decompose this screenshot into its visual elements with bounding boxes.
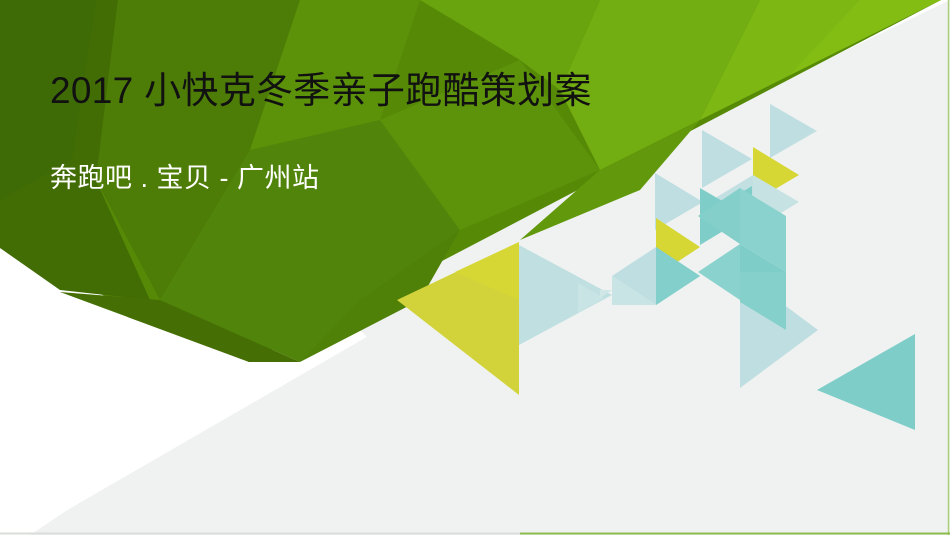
slide-subtitle: 奔跑吧 . 宝贝 - 广州站 xyxy=(50,160,690,196)
title-placeholder[interactable]: 2017 小快克冬季亲子跑酷策划案 xyxy=(50,68,690,114)
page-title: 2017 小快克冬季亲子跑酷策划案 xyxy=(50,68,690,114)
subtitle-placeholder[interactable]: 奔跑吧 . 宝贝 - 广州站 xyxy=(50,160,690,196)
presentation-slide: 2017 小快克冬季亲子跑酷策划案 奔跑吧 . 宝贝 - 广州站 xyxy=(0,0,950,535)
